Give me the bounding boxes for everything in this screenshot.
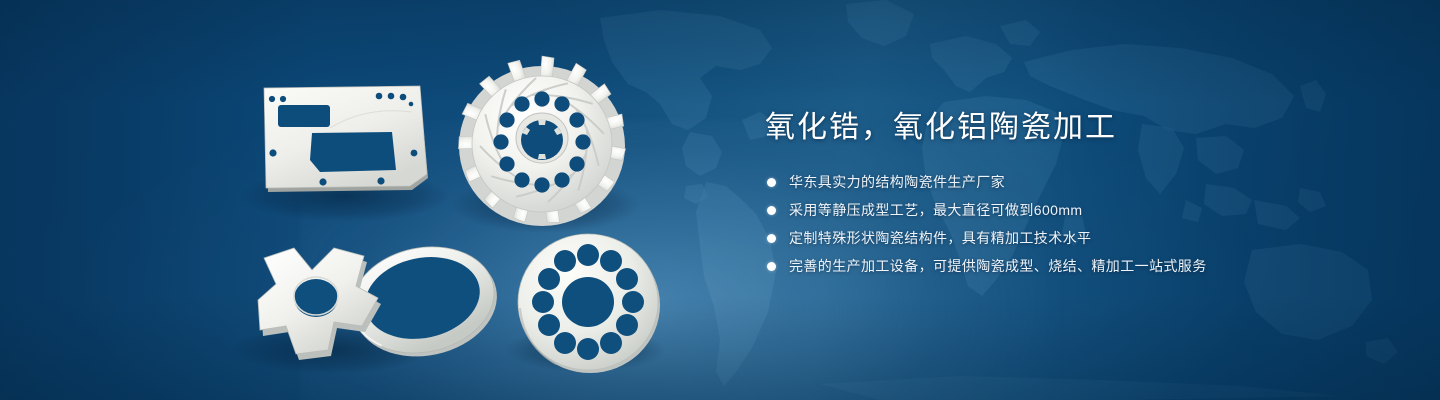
bullet-dot-icon xyxy=(767,234,776,243)
list-item: 定制特殊形状陶瓷结构件，具有精加工技术水平 xyxy=(767,228,1385,248)
feature-text: 定制特殊形状陶瓷结构件，具有精加工技术水平 xyxy=(789,230,1091,246)
feature-text: 采用等静压成型工艺，最大直径可做到600mm xyxy=(789,202,1082,218)
ceramic-hole-disc-part xyxy=(518,234,660,373)
list-item: 华东具实力的结构陶瓷件生产厂家 xyxy=(767,172,1385,192)
bullet-dot-icon xyxy=(767,206,776,215)
bullet-dot-icon xyxy=(767,262,776,271)
list-item: 采用等静压成型工艺，最大直径可做到600mm xyxy=(767,200,1385,220)
banner-headline: 氧化锆，氧化铝陶瓷加工 xyxy=(765,108,1385,148)
banner-copy: 氧化锆，氧化铝陶瓷加工 华东具实力的结构陶瓷件生产厂家 采用等静压成型工艺，最大… xyxy=(765,108,1385,276)
bullet-dot-icon xyxy=(767,178,776,187)
ceramic-products-image xyxy=(0,0,700,400)
feature-list: 华东具实力的结构陶瓷件生产厂家 采用等静压成型工艺，最大直径可做到600mm 定… xyxy=(767,172,1385,276)
feature-text: 完善的生产加工设备，可提供陶瓷成型、烧结、精加工一站式服务 xyxy=(789,258,1207,274)
list-item: 完善的生产加工设备，可提供陶瓷成型、烧结、精加工一站式服务 xyxy=(767,256,1385,276)
ceramic-plate-part xyxy=(264,86,428,192)
ceramic-impeller-part xyxy=(457,56,626,226)
feature-text: 华东具实力的结构陶瓷件生产厂家 xyxy=(789,174,1005,190)
hero-banner: 氧化锆，氧化铝陶瓷加工 华东具实力的结构陶瓷件生产厂家 采用等静压成型工艺，最大… xyxy=(0,0,1440,400)
